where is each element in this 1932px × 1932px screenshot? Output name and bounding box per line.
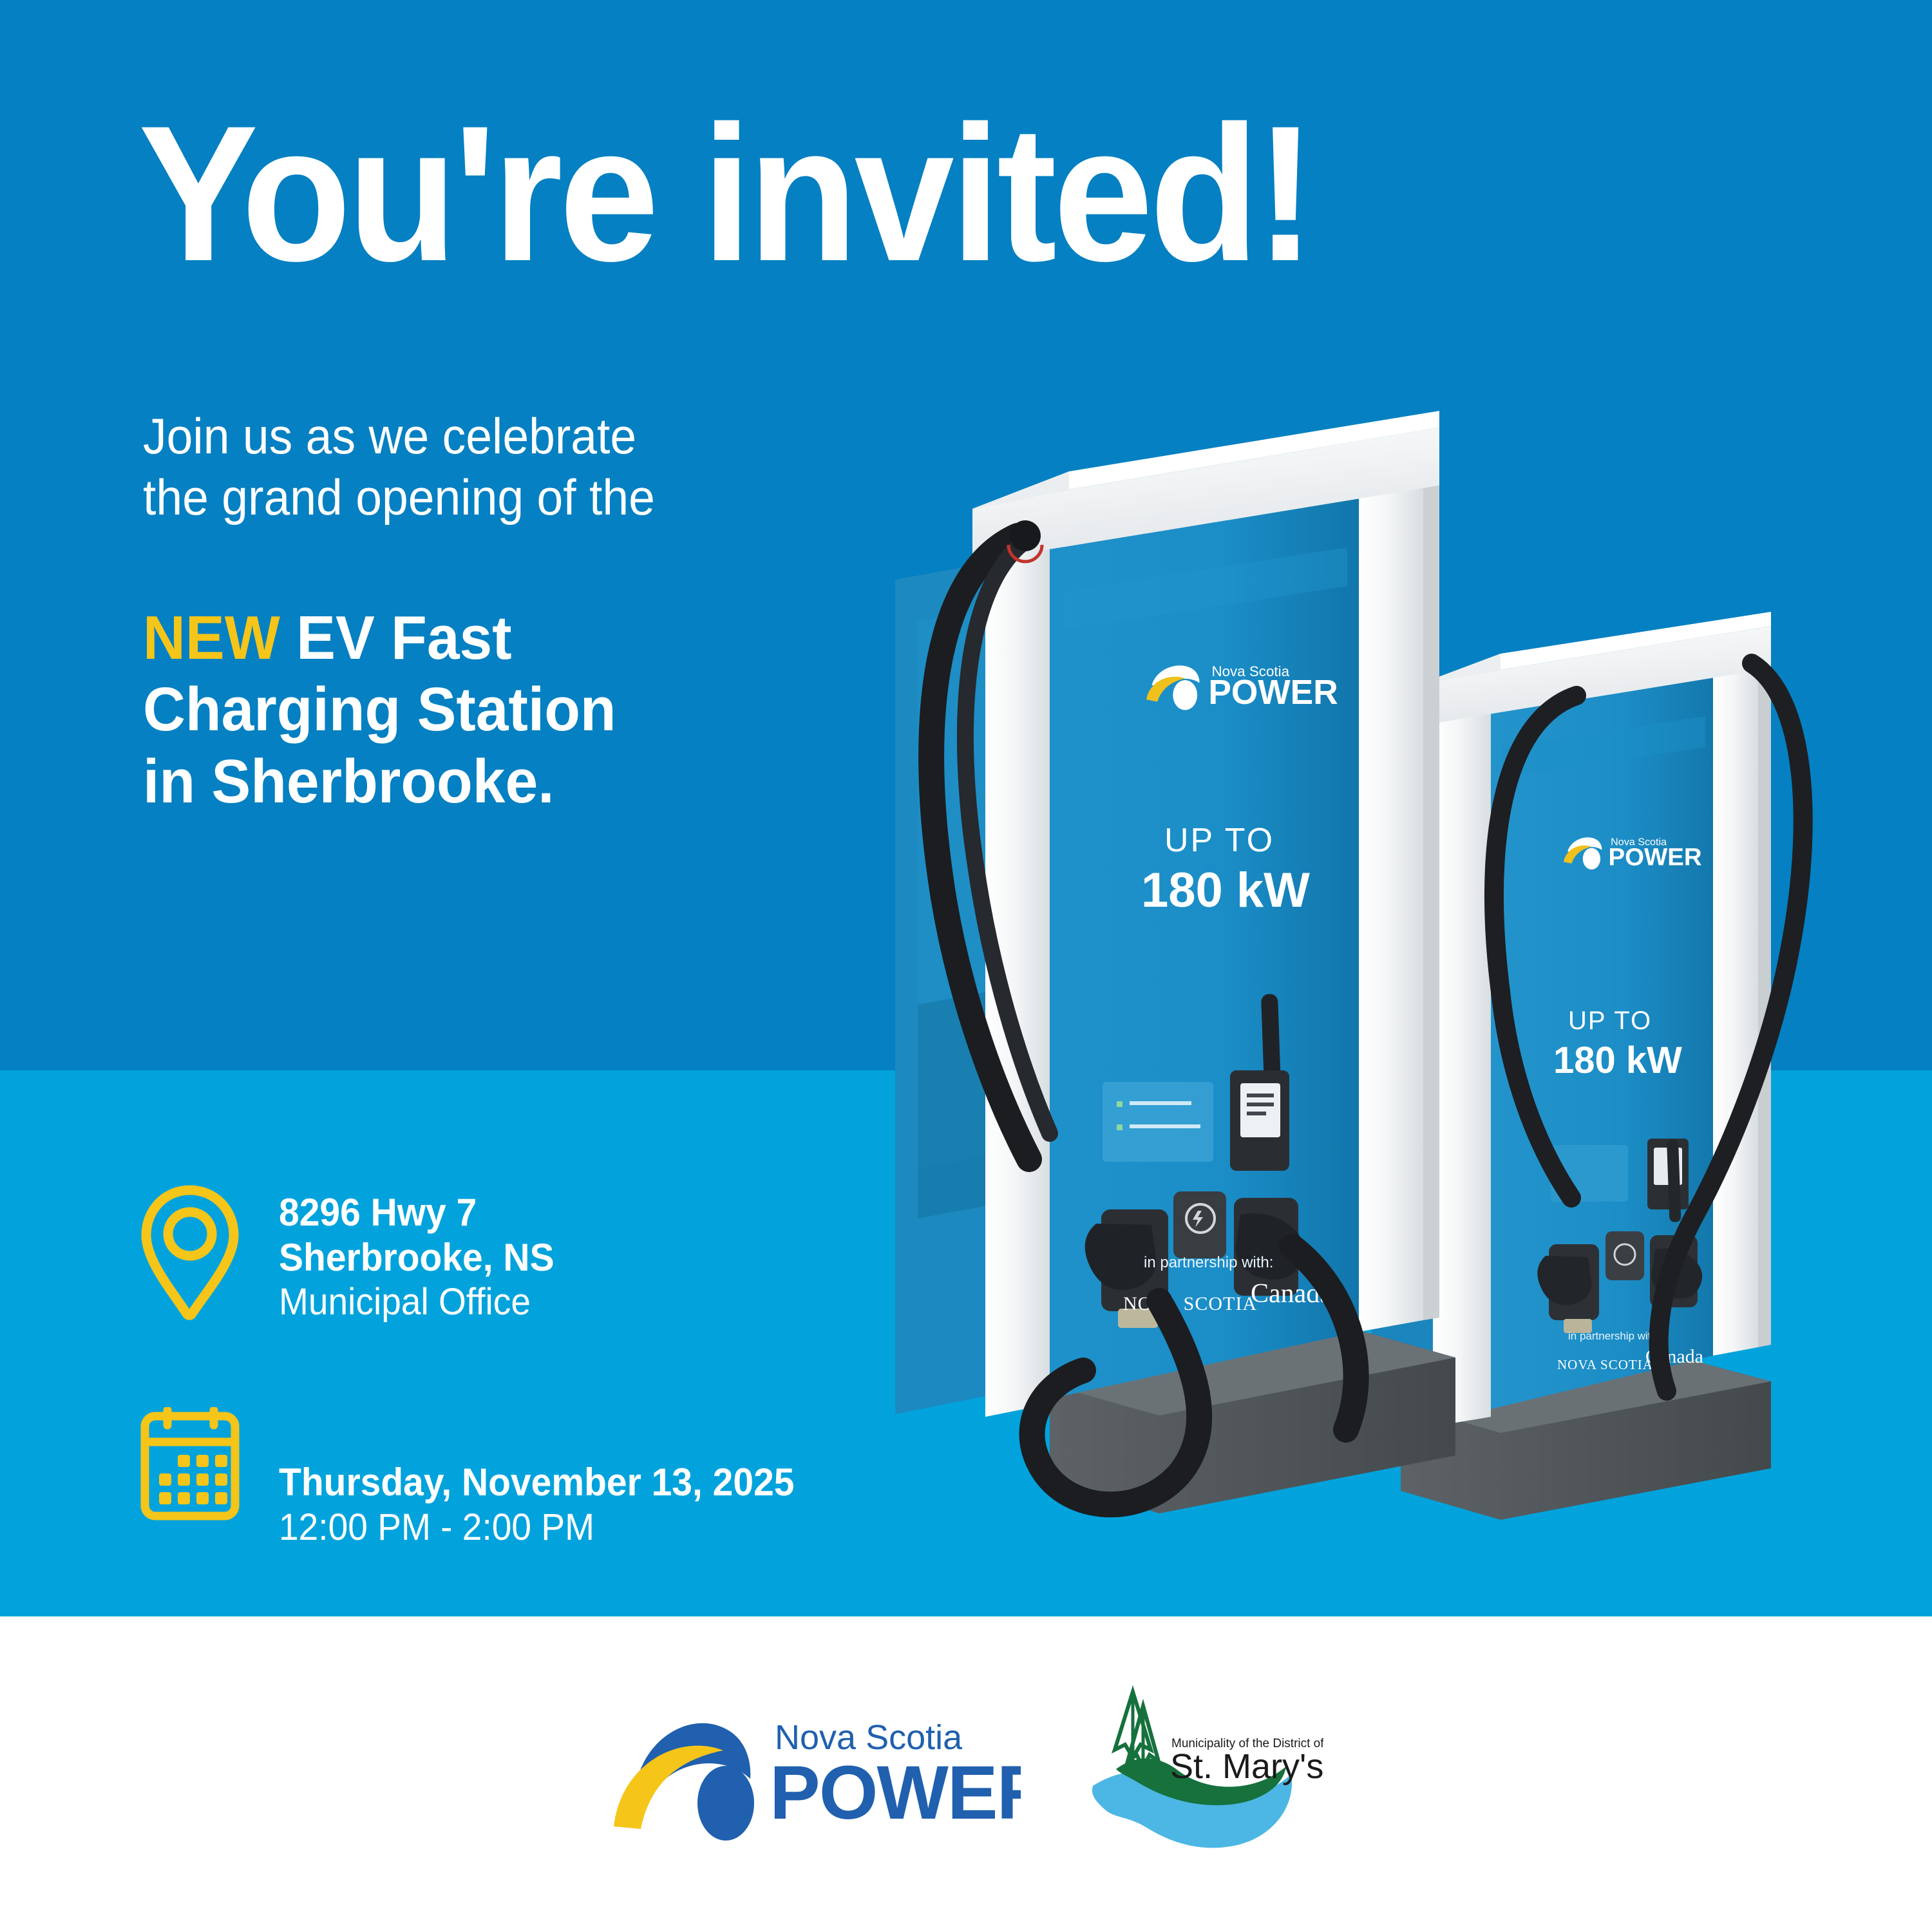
charger-front-screen-line-1 — [1130, 1101, 1191, 1105]
charger-front-cable-gland — [1010, 520, 1041, 551]
charger-back-brand-large: POWER — [1608, 843, 1701, 871]
charger-front-rating-value: 180 kW — [1141, 863, 1310, 918]
st-marys-logo: Municipality of the District of St. Mary… — [1079, 1678, 1323, 1871]
new-badge-text: NEW — [143, 603, 280, 672]
stmarys-logo-bottom-text: St. Mary's — [1170, 1747, 1323, 1786]
charger-front-reader-code-2 — [1247, 1103, 1274, 1106]
charger-front-right-edge — [1423, 486, 1439, 1320]
charger-front-rating-label: UP TO — [1164, 822, 1274, 859]
nsp-logo-bottom-text: POWER — [770, 1750, 1021, 1835]
time-line: 12:00 PM - 2:00 PM — [279, 1505, 794, 1550]
charger-front-holster-center — [1173, 1191, 1226, 1258]
intro-copy: Join us as we celebrate the grand openin… — [143, 406, 761, 528]
subheadline-line-1-rest: EV Fast — [280, 603, 512, 672]
location-line-3: Municipal Office — [279, 1280, 554, 1325]
pine-tree-icon — [1115, 1692, 1159, 1768]
ev-charger-artwork: Nova Scotia POWER UP TO 180 kW — [857, 361, 1932, 1552]
subheadline: NEW EV Fast Charging Station in Sherbroo… — [143, 602, 791, 817]
date-line: Thursday, November 13, 2025 — [279, 1460, 794, 1505]
charger-back-partnership-label: in partnership with: — [1568, 1330, 1660, 1342]
charger-front-right-column — [1359, 488, 1423, 1332]
charger-front-reader-code-3 — [1247, 1112, 1266, 1115]
charger-front-reader-code-1 — [1247, 1094, 1274, 1097]
charger-front-partner-1: NOVA SCOTIA — [1123, 1293, 1257, 1314]
charger-back-holster-center — [1605, 1231, 1644, 1280]
location-pin-icon — [138, 1185, 241, 1323]
charger-back-partner-1: NOVA SCOTIA — [1557, 1357, 1653, 1372]
invitation-poster: You're invited! Join us as we celebrate … — [0, 0, 1932, 1932]
charger-back-left-column — [1433, 712, 1491, 1426]
location-line-2: Sherbrooke, NS — [279, 1235, 554, 1280]
charger-back-rating-label: UP TO — [1568, 1007, 1652, 1035]
charger-back-rating-value: 180 kW — [1553, 1039, 1682, 1081]
subheadline-line-3: in Sherbrooke. — [143, 746, 791, 817]
charger-back-right-column — [1713, 670, 1758, 1356]
calendar-icon — [138, 1407, 241, 1526]
charger-front-partnership-label: in partnership with: — [1144, 1254, 1273, 1271]
page-title: You're invited! — [138, 97, 1516, 290]
charger-front-reader-face — [1240, 1083, 1280, 1137]
date-text-block: Thursday, November 13, 2025 12:00 PM - 2… — [279, 1407, 822, 1549]
charger-front-screen-line-2 — [1130, 1124, 1200, 1128]
location-detail: 8296 Hwy 7 Sherbrooke, NS Municipal Offi… — [138, 1185, 569, 1325]
ev-chargers-illustration: Nova Scotia POWER UP TO 180 kW — [857, 361, 1932, 1552]
date-detail: Thursday, November 13, 2025 12:00 PM - 2… — [138, 1407, 822, 1549]
nova-scotia-power-logo: Nova Scotia POWER — [609, 1700, 1021, 1848]
subheadline-line-2: Charging Station — [143, 674, 791, 745]
charger-front-screen — [1103, 1082, 1213, 1162]
location-text-block: 8296 Hwy 7 Sherbrooke, NS Municipal Offi… — [279, 1185, 569, 1325]
location-line-1: 8296 Hwy 7 — [279, 1190, 554, 1235]
charger-front-screen-bullet-2 — [1117, 1124, 1122, 1130]
intro-line-2: the grand opening of the — [143, 467, 761, 528]
footer-logos: Nova Scotia POWER Municipality of the Di… — [0, 1616, 1932, 1932]
charger-front-screen-bullet-1 — [1117, 1101, 1122, 1107]
subheadline-line-1: NEW EV Fast — [143, 602, 791, 674]
charger-front-brand-large: POWER — [1208, 674, 1338, 712]
intro-line-1: Join us as we celebrate — [143, 406, 761, 467]
